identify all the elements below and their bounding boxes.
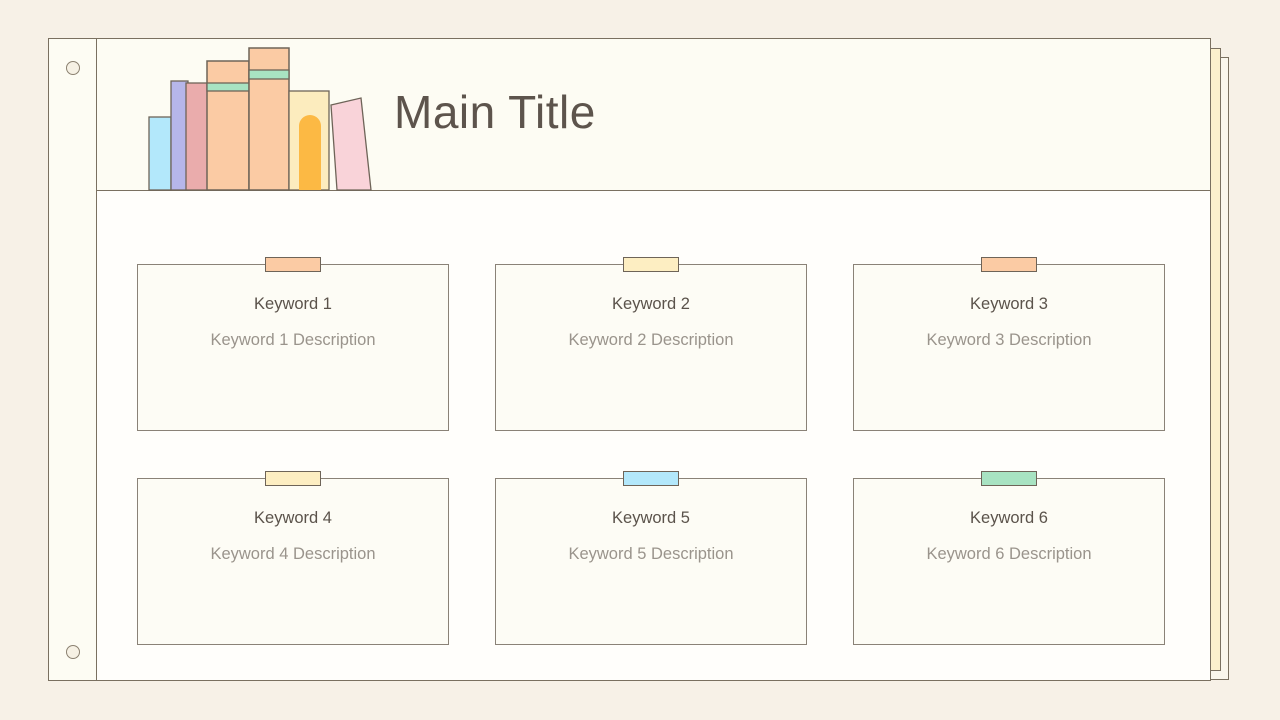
keyword-card-grid: Keyword 1 Keyword 1 Description Keyword … <box>137 257 1165 651</box>
punch-hole-top-icon <box>66 61 80 75</box>
card-description-5: Keyword 5 Description <box>496 545 806 564</box>
card-tab-1 <box>265 257 321 272</box>
card-box-3: Keyword 3 Keyword 3 Description <box>853 264 1165 431</box>
page-title: Main Title <box>394 85 596 139</box>
keyword-card-1[interactable]: Keyword 1 Keyword 1 Description <box>137 257 449 437</box>
card-tab-3 <box>981 257 1037 272</box>
keyword-card-6[interactable]: Keyword 6 Keyword 6 Description <box>853 471 1165 651</box>
card-box-2: Keyword 2 Keyword 2 Description <box>495 264 807 431</box>
keyword-card-4[interactable]: Keyword 4 Keyword 4 Description <box>137 471 449 651</box>
card-title-6: Keyword 6 <box>854 509 1164 528</box>
card-description-3: Keyword 3 Description <box>854 331 1164 350</box>
card-box-5: Keyword 5 Keyword 5 Description <box>495 478 807 645</box>
keyword-card-2[interactable]: Keyword 2 Keyword 2 Description <box>495 257 807 437</box>
slide-root: Main Title Keyword 1 Keyword 1 Descripti… <box>0 0 1280 720</box>
card-title-4: Keyword 4 <box>138 509 448 528</box>
card-title-2: Keyword 2 <box>496 295 806 314</box>
card-title-5: Keyword 5 <box>496 509 806 528</box>
card-description-4: Keyword 4 Description <box>138 545 448 564</box>
keyword-card-3[interactable]: Keyword 3 Keyword 3 Description <box>853 257 1165 437</box>
card-tab-4 <box>265 471 321 486</box>
punch-hole-bottom-icon <box>66 645 80 659</box>
page-sheet: Main Title Keyword 1 Keyword 1 Descripti… <box>97 39 1210 680</box>
card-description-2: Keyword 2 Description <box>496 331 806 350</box>
card-box-1: Keyword 1 Keyword 1 Description <box>137 264 449 431</box>
keyword-card-row-2: Keyword 4 Keyword 4 Description Keyword … <box>137 471 1165 651</box>
stack-of-books-icon <box>145 39 389 191</box>
card-title-3: Keyword 3 <box>854 295 1164 314</box>
notebook-page: Main Title Keyword 1 Keyword 1 Descripti… <box>48 38 1211 681</box>
slide-header: Main Title <box>97 39 1210 191</box>
keyword-card-5[interactable]: Keyword 5 Keyword 5 Description <box>495 471 807 651</box>
binder-spine <box>49 39 97 680</box>
card-box-4: Keyword 4 Keyword 4 Description <box>137 478 449 645</box>
card-tab-5 <box>623 471 679 486</box>
card-description-1: Keyword 1 Description <box>138 331 448 350</box>
keyword-card-row-1: Keyword 1 Keyword 1 Description Keyword … <box>137 257 1165 437</box>
card-tab-6 <box>981 471 1037 486</box>
slide-content: Keyword 1 Keyword 1 Description Keyword … <box>97 191 1210 680</box>
card-tab-2 <box>623 257 679 272</box>
card-box-6: Keyword 6 Keyword 6 Description <box>853 478 1165 645</box>
card-title-1: Keyword 1 <box>138 295 448 314</box>
card-description-6: Keyword 6 Description <box>854 545 1164 564</box>
